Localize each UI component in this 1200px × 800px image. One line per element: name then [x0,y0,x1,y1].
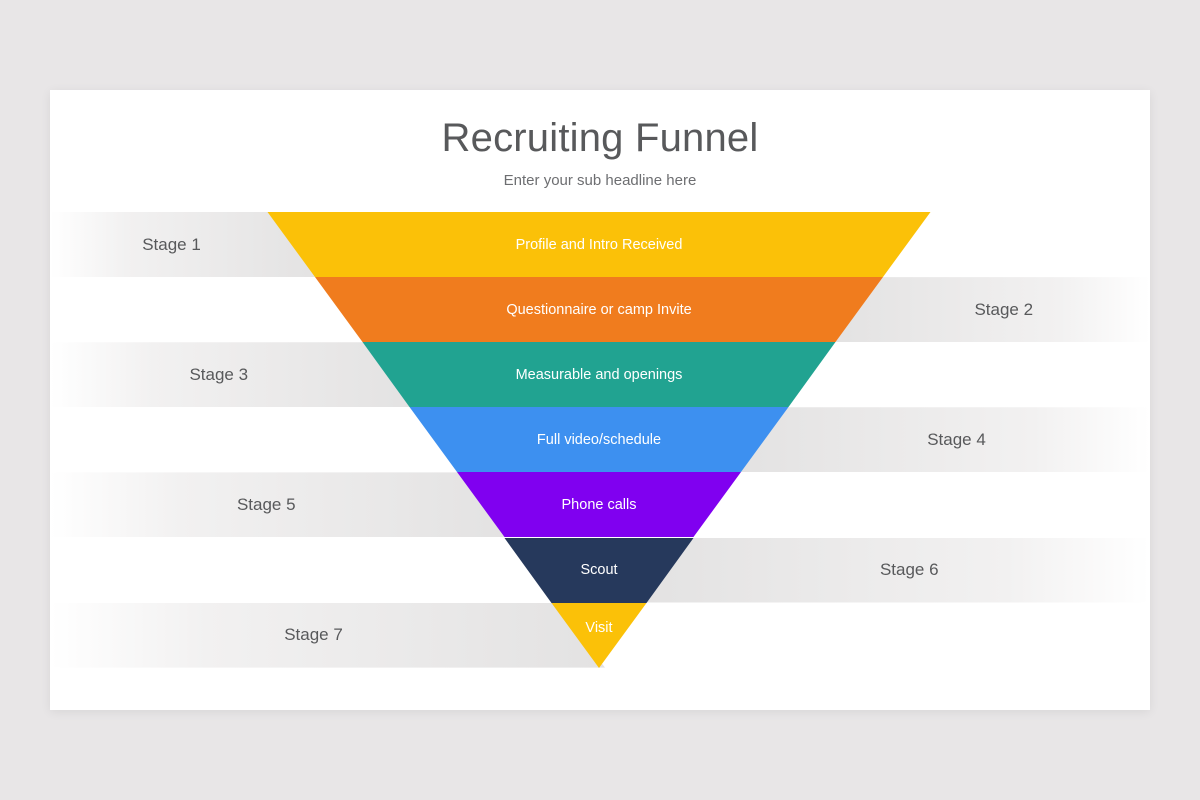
funnel-band-shape [315,277,883,342]
funnel-band-shape [552,603,647,668]
funnel-stage-row: Stage 7Visit [50,603,1150,668]
funnel-band-3[interactable] [50,342,1150,407]
funnel-stage-row: Stage 6Scout [50,538,1150,603]
funnel-band-1[interactable] [50,212,1150,277]
funnel-stage-row: Stage 3Measurable and openings [50,342,1150,407]
funnel-band-6[interactable] [50,538,1150,603]
funnel-stage-row: Stage 1Profile and Intro Received [50,212,1150,277]
funnel-band-4[interactable] [50,407,1150,472]
funnel-band-shape [457,472,741,537]
funnel-band-2[interactable] [50,277,1150,342]
funnel-band-shape [268,212,931,277]
funnel-band-7[interactable] [50,603,1150,668]
funnel-band-5[interactable] [50,472,1150,537]
funnel-stage-row: Stage 5Phone calls [50,472,1150,537]
funnel-diagram: Stage 1Profile and Intro ReceivedStage 2… [50,90,1150,710]
funnel-band-shape [363,342,836,407]
funnel-band-shape [410,407,789,472]
funnel-stage-row: Stage 4Full video/schedule [50,407,1150,472]
slide-card: Recruiting Funnel Enter your sub headlin… [50,90,1150,710]
funnel-stage-row: Stage 2Questionnaire or camp Invite [50,277,1150,342]
funnel-band-shape [505,538,694,603]
